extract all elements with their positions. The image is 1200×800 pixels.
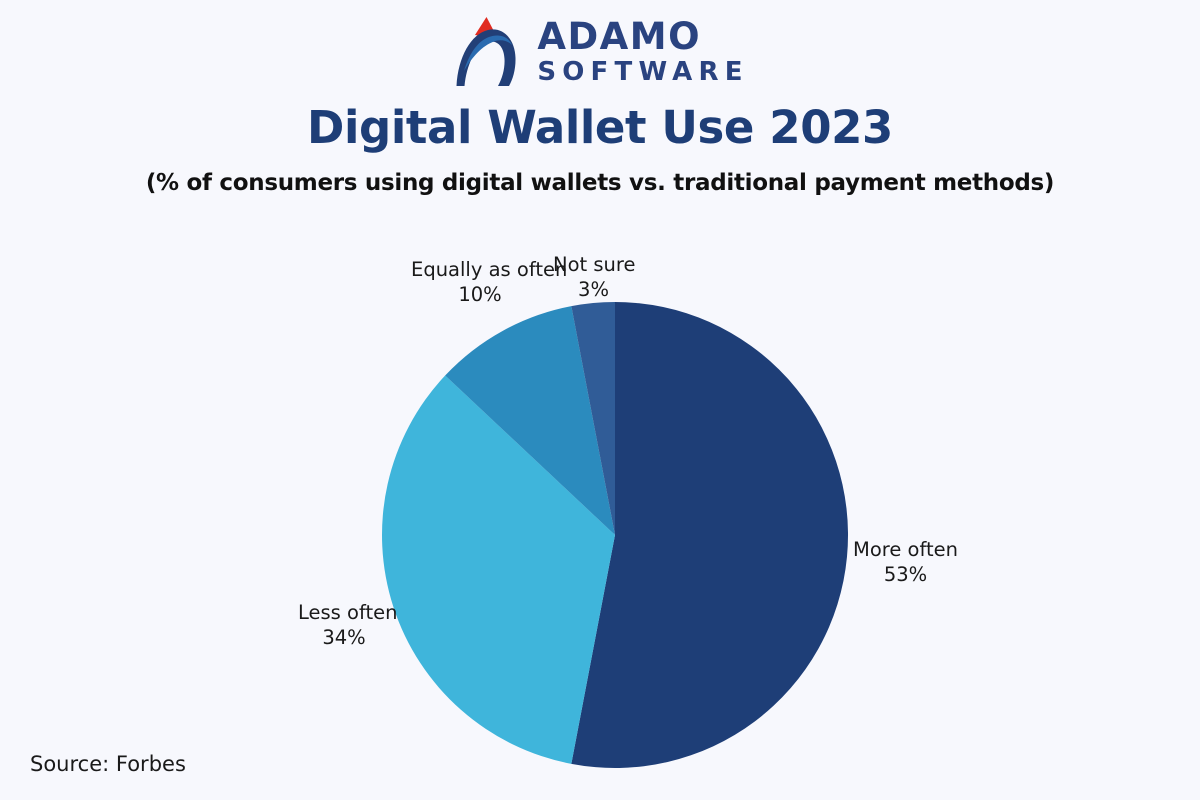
brand-name-secondary: SOFTWARE: [537, 59, 748, 85]
pie-slice-group: [382, 302, 848, 768]
brand-logo: ADAMO SOFTWARE: [0, 8, 1200, 94]
pie-label-equally-as-often-name: Equally as often: [411, 258, 549, 283]
source-note: Source: Forbes: [30, 752, 186, 776]
pie-label-less-often: Less often 34%: [298, 601, 390, 651]
pie-label-not-sure-name: Not sure: [553, 253, 634, 278]
brand-wordmark: ADAMO SOFTWARE: [537, 18, 748, 85]
pie-slice-not-sure: [571, 302, 615, 535]
pie-slice-less-often: [382, 376, 615, 764]
pie-label-less-often-name: Less often: [298, 601, 390, 626]
pie-slice-equally-as-often: [445, 306, 615, 535]
pie-label-equally-as-often-value: 10%: [411, 283, 549, 308]
pie-label-more-often-value: 53%: [853, 563, 958, 588]
chart-subtitle: (% of consumers using digital wallets vs…: [0, 170, 1200, 196]
adamo-logo-icon: [451, 13, 523, 89]
pie-label-not-sure-value: 3%: [553, 278, 634, 303]
pie-label-equally-as-often: Equally as often 10%: [411, 258, 549, 308]
pie-label-more-often: More often 53%: [853, 538, 958, 588]
pie-label-less-often-value: 34%: [298, 626, 390, 651]
pie-label-not-sure: Not sure 3%: [553, 253, 634, 303]
pie-slice-more-often: [571, 302, 848, 768]
brand-name-primary: ADAMO: [537, 18, 701, 55]
pie-label-more-often-name: More often: [853, 538, 958, 563]
chart-title: Digital Wallet Use 2023: [0, 101, 1200, 154]
